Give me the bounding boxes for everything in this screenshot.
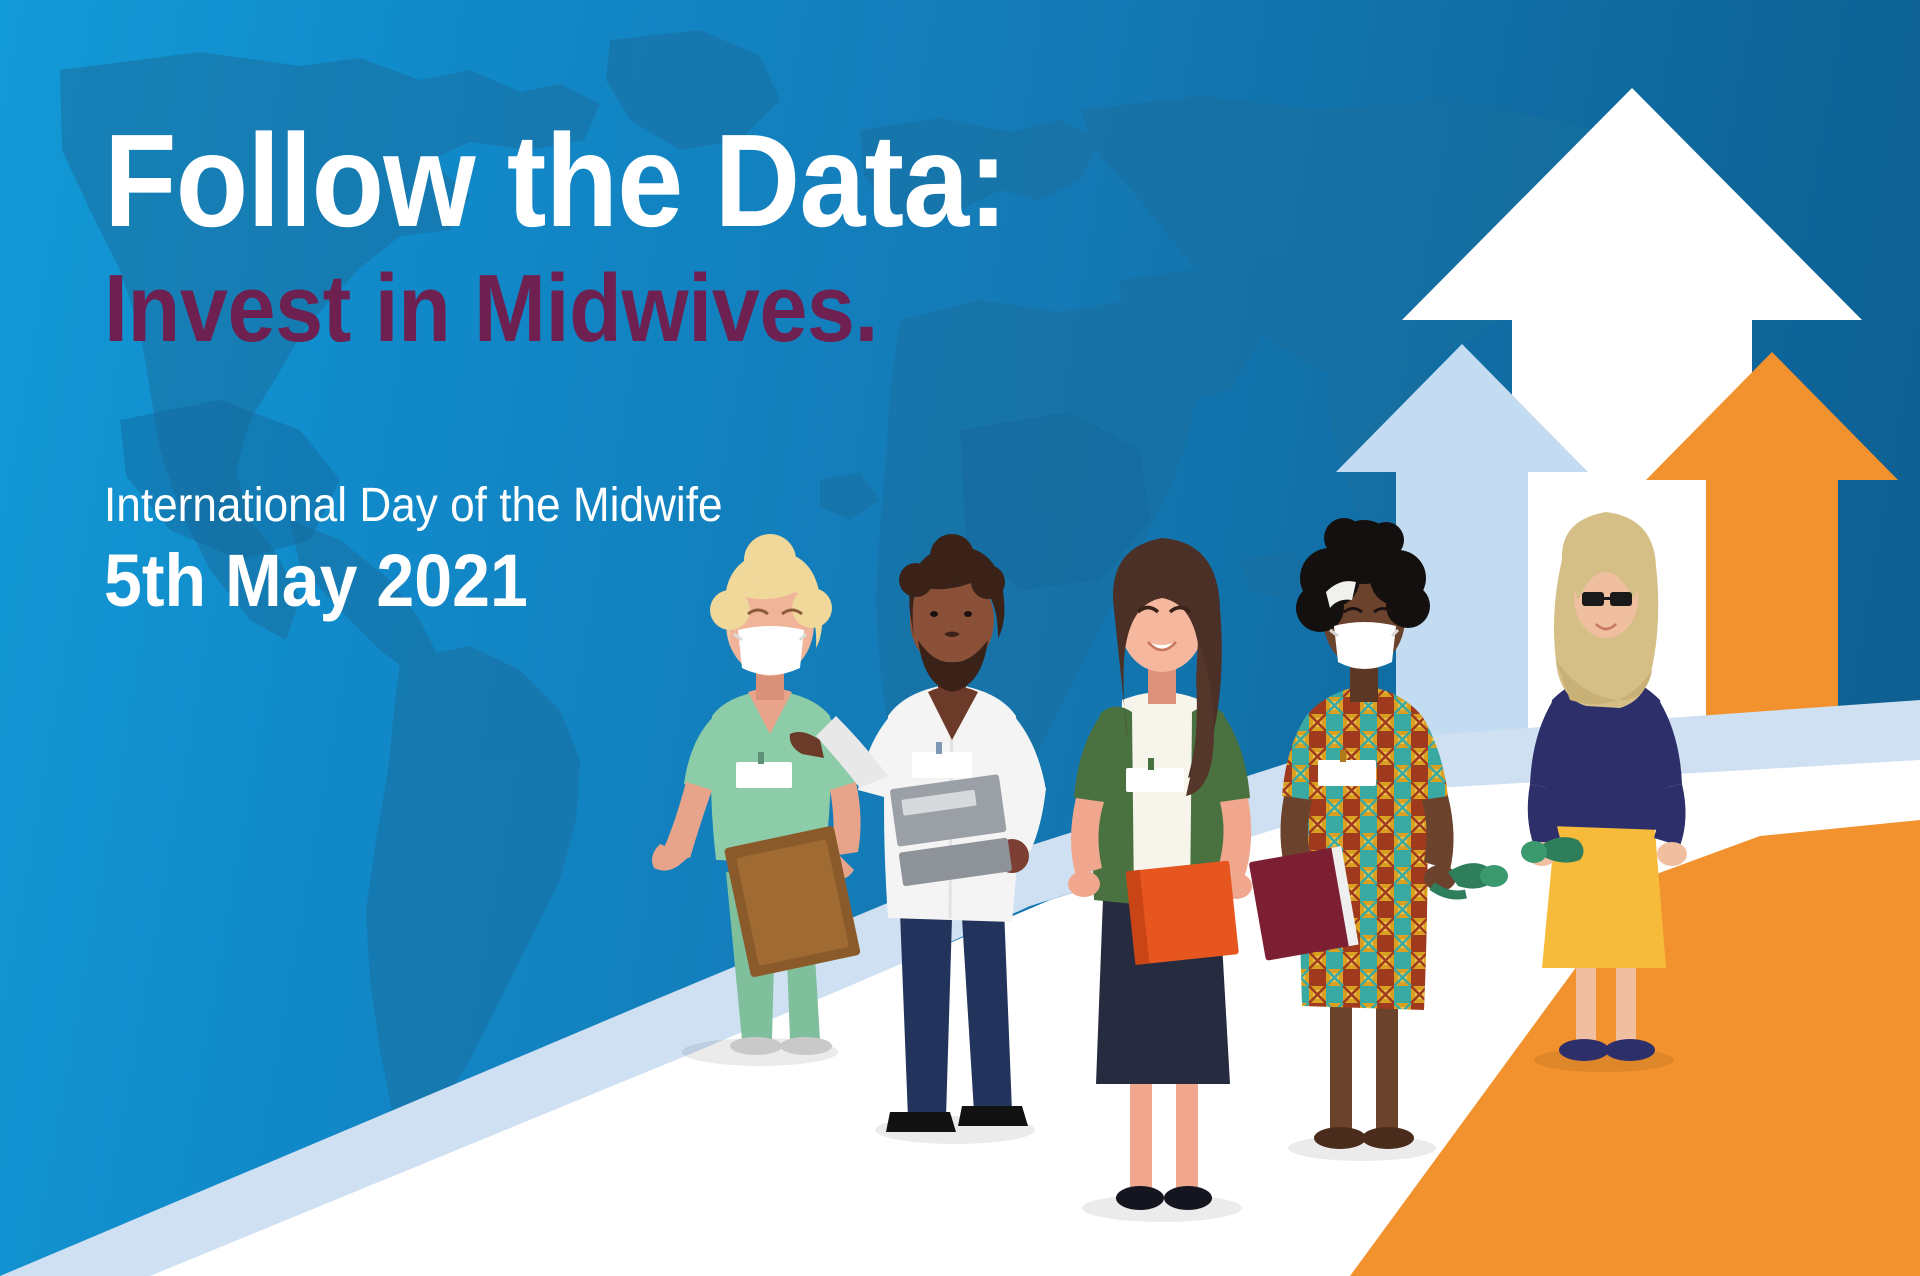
figure-midwife-hijab	[1521, 512, 1687, 1072]
poster-canvas: Follow the Data: Invest in Midwives. Int…	[0, 0, 1920, 1276]
figure-midwife-ankara	[1249, 518, 1508, 1161]
midwife-figures-group	[0, 0, 1920, 1276]
name-badge	[1126, 768, 1184, 792]
face-mask	[738, 626, 804, 675]
face-mask	[1334, 622, 1396, 669]
orange-book	[1126, 861, 1239, 965]
name-badge	[912, 752, 972, 778]
figure-midwife-cardigan	[1068, 538, 1252, 1222]
stethoscope	[1521, 837, 1584, 863]
figure-midwife-scrubs	[652, 534, 861, 1066]
name-badge	[736, 762, 792, 788]
name-badge	[1318, 760, 1376, 786]
ankara-dress	[1300, 686, 1428, 1010]
maroon-book	[1249, 846, 1359, 961]
notes-device	[890, 774, 1013, 886]
